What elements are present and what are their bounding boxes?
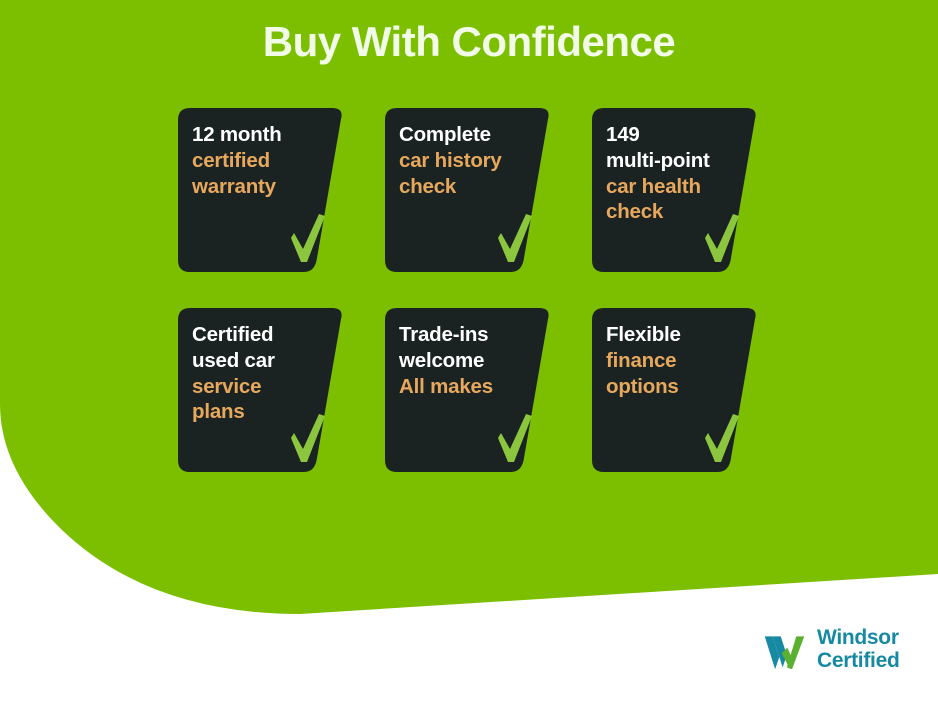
card-line: car history	[399, 148, 535, 174]
card-text: Completecar historycheck	[385, 108, 551, 199]
brand-logo: Windsor Certified	[761, 626, 899, 673]
card-line: All makes	[399, 374, 535, 400]
card-line: used car	[192, 348, 328, 374]
card-line: 149	[606, 122, 742, 148]
card-line: multi-point	[606, 148, 742, 174]
check-icon	[702, 212, 742, 264]
card-12-month-certified-warranty: 12 monthcertifiedwarranty	[178, 108, 344, 272]
check-icon	[495, 212, 535, 264]
card-line: Flexible	[606, 322, 742, 348]
benefit-card-grid: 12 monthcertifiedwarrantyCompletecar his…	[178, 108, 758, 472]
card-line: 12 month	[192, 122, 328, 148]
page-title: Buy With Confidence	[0, 18, 938, 66]
card-line: welcome	[399, 348, 535, 374]
card-line: certified	[192, 148, 328, 174]
card-line: finance	[606, 348, 742, 374]
card-flexible-finance-options: Flexiblefinanceoptions	[592, 308, 758, 472]
card-line: service	[192, 374, 328, 400]
poster-canvas: Buy With Confidence 12 monthcertifiedwar…	[0, 0, 938, 704]
logo-wordmark: Windsor Certified	[817, 627, 899, 672]
card-line: Trade-ins	[399, 322, 535, 348]
card-line: Complete	[399, 122, 535, 148]
card-line: warranty	[192, 174, 328, 200]
card-certified-used-car-service-plans: Certifiedused carserviceplans	[178, 308, 344, 472]
windsor-w-icon	[761, 626, 808, 673]
card-text: Certifiedused carserviceplans	[178, 308, 344, 425]
card-line: Certified	[192, 322, 328, 348]
card-text: Flexiblefinanceoptions	[592, 308, 758, 399]
check-icon	[495, 412, 535, 464]
check-icon	[702, 412, 742, 464]
logo-line-2: Certified	[817, 650, 899, 672]
card-text: Trade-inswelcomeAll makes	[385, 308, 551, 399]
logo-line-1: Windsor	[817, 627, 899, 649]
card-line: check	[399, 174, 535, 200]
check-icon	[288, 212, 328, 264]
card-line: car health	[606, 174, 742, 200]
card-text: 149multi-pointcar healthcheck	[592, 108, 758, 225]
card-line: options	[606, 374, 742, 400]
card-text: 12 monthcertifiedwarranty	[178, 108, 344, 199]
card-complete-car-history-check: Completecar historycheck	[385, 108, 551, 272]
card-149-multi-point-car-health-check: 149multi-pointcar healthcheck	[592, 108, 758, 272]
card-trade-ins-welcome-all-makes: Trade-inswelcomeAll makes	[385, 308, 551, 472]
check-icon	[288, 412, 328, 464]
